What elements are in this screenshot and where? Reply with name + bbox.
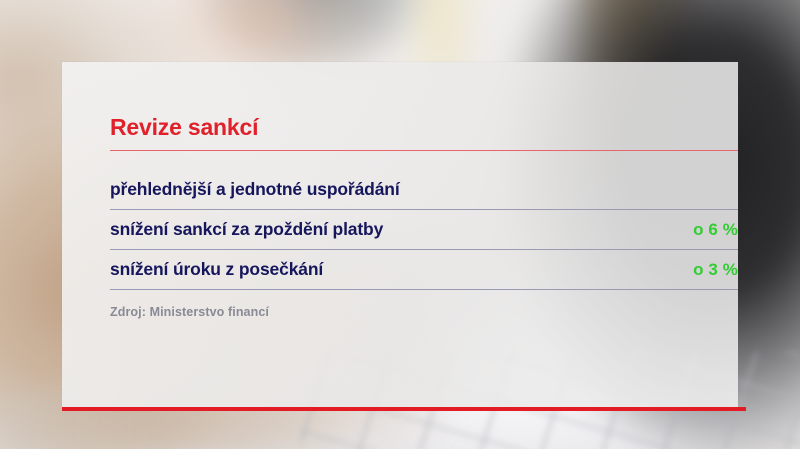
list-item: přehlednější a jednotné uspořádání — [110, 170, 738, 210]
list-item-label: přehlednější a jednotné uspořádání — [110, 179, 400, 200]
list-item-value: o 3 % — [693, 260, 738, 280]
list-item: snížení sankcí za zpoždění platby o 6 % — [110, 210, 738, 250]
list-item-label: snížení sankcí za zpoždění platby — [110, 219, 383, 240]
source-note: Zdroj: Ministerstvo financí — [110, 305, 269, 319]
title-divider — [110, 150, 738, 151]
info-card: Revize sankcí přehlednější a jednotné us… — [62, 62, 738, 407]
infographic-slide: Revize sankcí přehlednější a jednotné us… — [0, 0, 800, 449]
list-item-value: o 6 % — [693, 220, 738, 240]
measures-list: přehlednější a jednotné uspořádání sníže… — [110, 170, 738, 290]
bottom-accent-bar — [62, 407, 746, 411]
list-item: snížení úroku z posečkání o 3 % — [110, 250, 738, 290]
page-title: Revize sankcí — [110, 114, 258, 141]
list-item-label: snížení úroku z posečkání — [110, 259, 323, 280]
info-card-content: Revize sankcí přehlednější a jednotné us… — [86, 62, 714, 407]
